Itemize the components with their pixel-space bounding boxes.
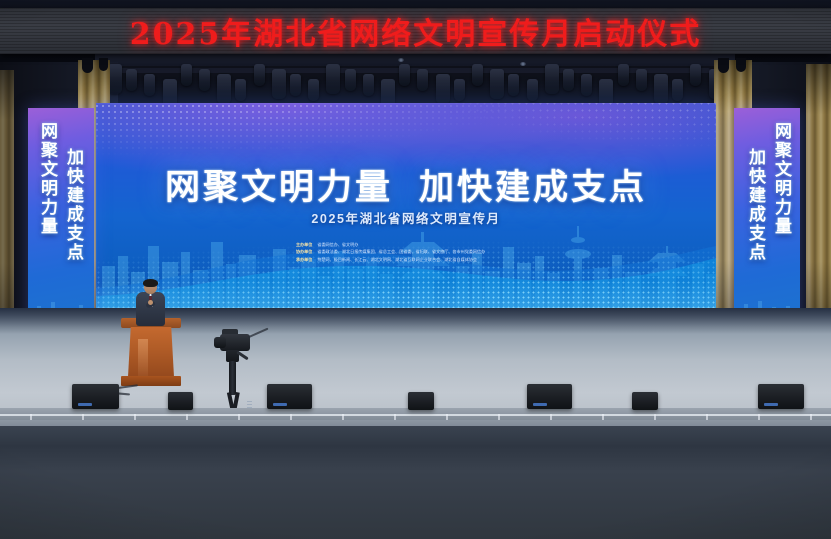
stage-light [108,64,122,94]
curtain-scallop [736,58,746,72]
podium-body [128,327,174,377]
led-credit-orgs: 省委政法委、湖北日报传媒集团、省总工会、团省委、省妇联、省文旅厅、各市州党委网信… [317,248,485,255]
led-credit-role: 承办单位 [296,256,312,263]
event-title-text: 2025年湖北省网络文明宣传月启动仪式 [130,9,702,53]
led-headline: 网聚文明力量加快建成支点 [96,159,716,210]
event-photo-scene: 2025年湖北省网络文明宣传月启动仪式 [0,0,831,539]
stage-monitor-speaker [758,384,804,409]
curtain-far-left [0,70,14,346]
led-credits-block: 主办单位省委网信办、省文明办协办单位省委政法委、湖北日报传媒集团、省总工会、团省… [296,241,636,263]
camera-lens [214,337,226,348]
stage-light [199,69,210,91]
stage-light [417,69,428,91]
stage-light-glow [520,62,526,66]
stage-light [254,64,265,86]
stage-monitor-speaker [632,392,658,410]
stage-light [363,74,374,96]
stage-monitor-speaker [72,384,119,409]
event-title-banner: 2025年湖北省网络文明宣传月启动仪式 [0,8,831,54]
stage-light [144,74,155,96]
audience-area [0,426,831,539]
curtain-scallop [99,58,108,71]
led-subtitle: 2025年湖北省网络文明宣传月 [96,208,716,227]
banner-right-column2: 加快建成支点 [743,148,768,262]
speaker-hand [148,300,153,305]
led-credit-orgs: 荆楚网、极目新闻、长江云、湖北文明网、湖北省互联网企业联合会、湖北省自媒体协会 [317,256,477,263]
stage-light-glow [398,58,404,62]
stage-light [181,64,192,86]
roll-up-banner-left: 网聚文明力量 加快建成支点 2025年湖北省网络文明宣传月 [28,108,94,340]
stage-light [581,74,592,96]
curtain-scallop [82,58,93,73]
stage-light [272,69,286,99]
monitor-badge [533,403,547,406]
stage-light [690,64,701,86]
stage-light [508,74,519,96]
stage-light [345,69,356,91]
led-headline-part2: 加快建成支点 [419,168,647,208]
banner-left-column1: 网聚文明力量 [35,122,60,236]
stage-light [618,64,629,86]
main-led-screen: 网聚文明力量加快建成支点 2025年湖北省网络文明宣传月 主办单位省委网信办、省… [96,103,716,308]
stage-light [326,64,340,94]
stage-monitor-speaker [527,384,572,409]
podium [125,318,177,390]
monitor-badge [78,403,92,406]
stage-light [563,69,574,91]
stage-light [308,79,319,101]
speaker-person [130,280,170,328]
tripod-column [229,361,236,395]
led-credit-row: 主办单位省委网信办、省文明办 [296,241,636,248]
stage-light [290,74,301,96]
roll-up-banner-right: 网聚文明力量 加快建成支点 2025年湖北省网络文明宣传月 [734,108,800,340]
led-headline-part1: 网聚文明力量 [165,168,393,208]
led-credit-orgs: 省委网信办、省文明办 [317,241,358,248]
led-credit-role: 主办单位 [296,241,312,248]
banner-right-column1: 网聚文明力量 [769,122,794,236]
stage-light [399,64,410,86]
stage-light [454,79,465,101]
stage-light [126,69,137,91]
stage-light [472,64,483,86]
banner-left-column2: 加快建成支点 [61,148,86,262]
monitor-badge [764,403,778,406]
stage-light [217,74,231,104]
stage-monitor-speaker [267,384,312,409]
stage-light [636,69,647,91]
stage-light [436,74,450,104]
curtain-far-right [806,64,831,346]
stage-light [672,79,683,101]
stage-light [527,79,538,101]
led-credit-role: 协办单位 [296,248,312,255]
stage-light [654,74,668,104]
led-credit-row: 协办单位省委政法委、湖北日报传媒集团、省总工会、团省委、省妇联、省文旅厅、各市州… [296,248,636,255]
led-bottom-glow [96,282,716,308]
stage-light [545,64,559,94]
curtain-scallop [718,58,729,73]
led-credit-row: 承办单位荆楚网、极目新闻、长江云、湖北文明网、湖北省互联网企业联合会、湖北省自媒… [296,256,636,263]
stage-light [235,79,246,101]
monitor-badge [273,403,287,406]
stage-monitor-speaker [168,392,193,410]
stage-light [490,69,504,99]
stage-monitor-speaker [408,392,434,410]
speaker-hair [143,279,158,287]
